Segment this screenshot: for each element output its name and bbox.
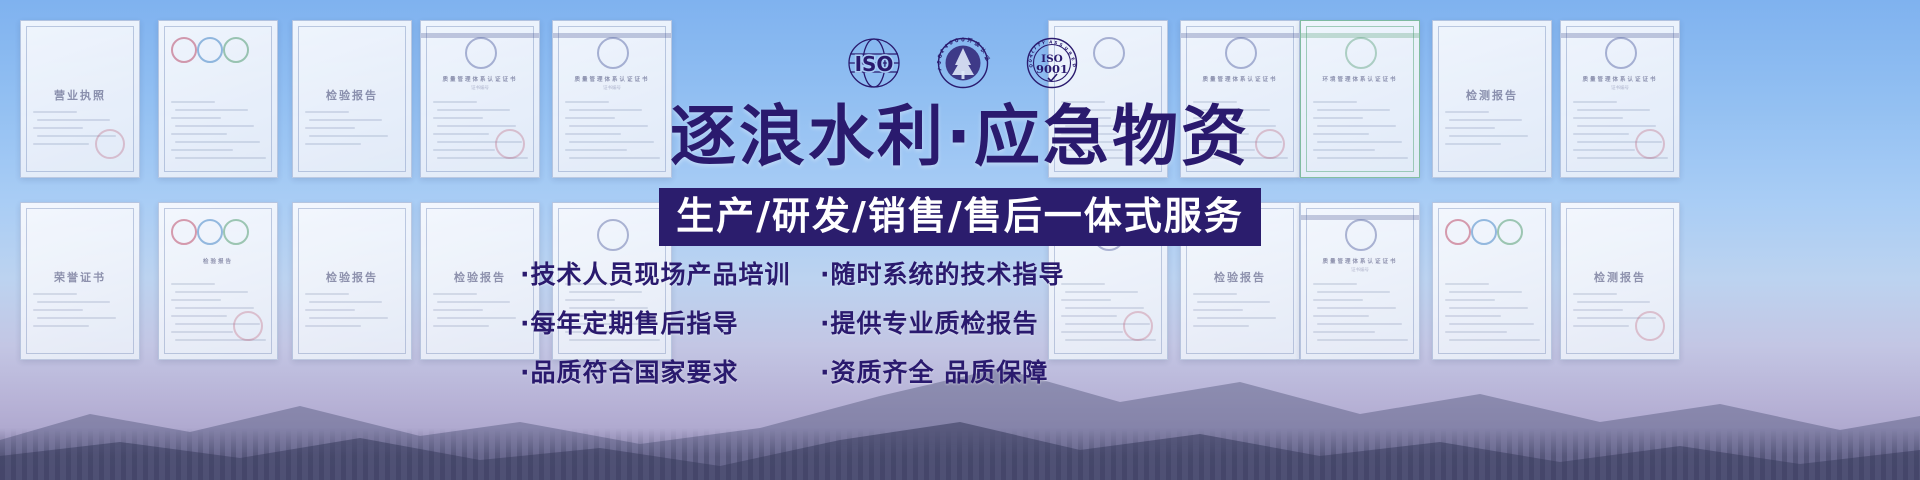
svg-text:T: T [1037, 42, 1041, 48]
promo-banner: 营业执照检验报告质量管理体系认证证书证书编号质量管理体系认证证书证书编号质量管理… [0, 0, 1920, 480]
svg-text:R: R [1067, 50, 1073, 56]
certification-badges: ISO I S O 1 4 0 0 0 环 境 [843, 34, 1083, 92]
feature-row: ·品质符合国家要求 ·资质齐全 品质保障 [520, 351, 1080, 394]
feature-item: ·每年定期售后指导 [520, 309, 820, 339]
feature-item: ·提供专业质检报告 [820, 309, 1080, 339]
svg-text:U: U [1063, 45, 1069, 51]
feature-item: ·随时系统的技术指导 [820, 260, 1080, 290]
feature-list: ·技术人员现场产品培训 ·随时系统的技术指导 ·每年定期售后指导 ·提供专业质检… [520, 253, 1080, 400]
svg-text:E: E [1070, 57, 1076, 62]
svg-text:S: S [1054, 40, 1058, 46]
feature-item: ·技术人员现场产品培训 [520, 260, 820, 290]
banner-content: ISO I S O 1 4 0 0 0 环 境 [0, 0, 1920, 480]
iso-globe-badge: ISO [843, 35, 905, 91]
svg-text:ISO: ISO [855, 52, 894, 76]
svg-text:I: I [937, 68, 943, 72]
main-title: 逐浪水利·应急物资 [0, 102, 1920, 172]
svg-text:Y: Y [1041, 40, 1046, 45]
svg-text:9001: 9001 [1036, 62, 1068, 76]
feature-item: ·资质齐全 品质保障 [820, 358, 1080, 388]
svg-text:0: 0 [961, 37, 965, 43]
svg-text:A: A [1049, 39, 1054, 44]
iso-9001-badge: ISO 9001 Q U A L I T Y A S S U R E [1021, 35, 1083, 91]
iso-14000-badge: I S O 1 4 0 0 0 环 境 认 证 [932, 35, 994, 91]
feature-item: ·品质符合国家要求 [520, 358, 820, 388]
feature-row: ·技术人员现场产品培训 ·随时系统的技术指导 [520, 253, 1080, 296]
feature-row: ·每年定期售后指导 ·提供专业质检报告 [520, 302, 1080, 345]
subtitle-wrap: 生产/研发/销售/售后一体式服务 [0, 188, 1920, 246]
subtitle-bar: 生产/研发/销售/售后一体式服务 [659, 188, 1261, 246]
svg-text:S: S [1059, 42, 1064, 48]
